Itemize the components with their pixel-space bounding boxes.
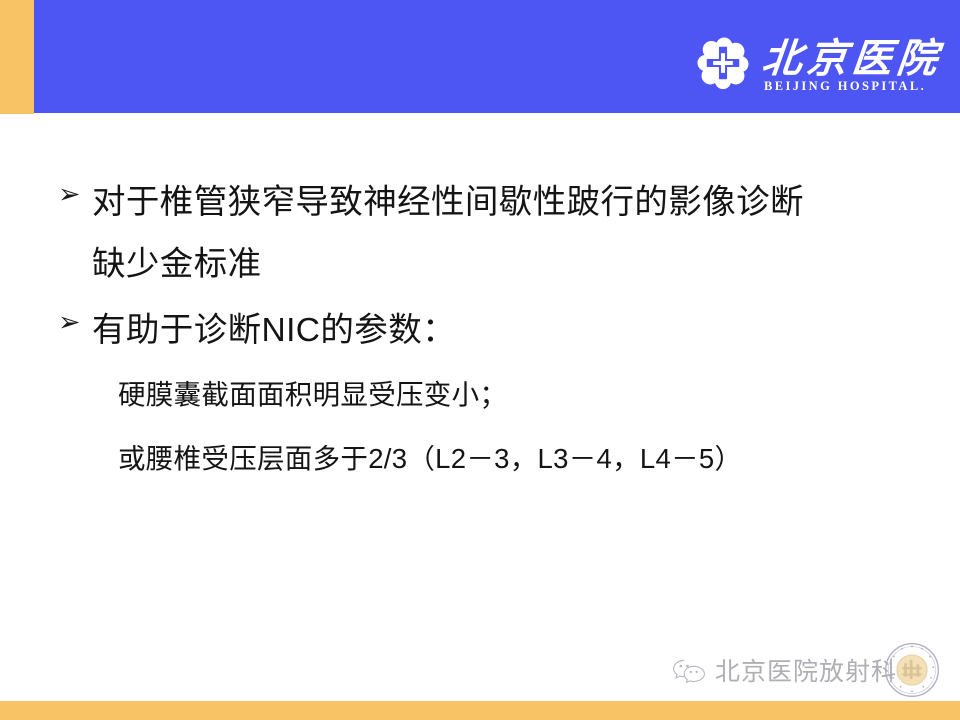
watermark: 北京医院放射科 <box>672 642 940 698</box>
presentation-slide: 北京医院 BEIJING HOSPITAL. ➢ 对于椎管狭窄导致神经性间歇性跛… <box>0 0 960 720</box>
hospital-name-cn: 北京医院 <box>760 38 944 80</box>
bullet-arrow-icon: ➢ <box>58 172 92 218</box>
bullet-item-1: ➢ 对于椎管狭窄导致神经性间歇性跛行的影像诊断 缺少金标准 <box>58 172 918 296</box>
bullet-item-2-text: 有助于诊断NIC的参数： <box>92 300 456 362</box>
sub-item-2: 或腰椎受压层面多于2/3（L2－3，L3－4，L4－5） <box>118 439 742 479</box>
hospital-cross-emblem-icon <box>694 34 752 92</box>
bullet-arrow-icon: ➢ <box>58 300 92 346</box>
footer-accent-band <box>0 701 960 720</box>
hospital-logo: 北京医院 BEIJING HOSPITAL. <box>694 22 942 94</box>
bullet-item-1-line-1: 对于椎管狭窄导致神经性间歇性跛行的影像诊断 <box>92 184 804 221</box>
wechat-logo-icon <box>672 657 706 683</box>
watermark-text: 北京医院放射科 <box>715 652 897 688</box>
slide-content: ➢ 对于椎管狭窄导致神经性间歇性跛行的影像诊断 缺少金标准 ➢ 有助于诊断NIC… <box>0 113 960 701</box>
bullet-item-1-line-2: 缺少金标准 <box>92 234 804 296</box>
hospital-logo-wordmark: 北京医院 BEIJING HOSPITAL. <box>762 38 942 94</box>
circular-seal-badge-icon <box>884 642 940 698</box>
bullet-item-2: ➢ 有助于诊断NIC的参数： <box>58 300 758 362</box>
hospital-name-en: BEIJING HOSPITAL. <box>764 80 926 94</box>
slide-header-band: 北京医院 BEIJING HOSPITAL. <box>34 0 960 113</box>
bullet-item-1-text: 对于椎管狭窄导致神经性间歇性跛行的影像诊断 缺少金标准 <box>92 172 804 296</box>
sub-item-1: 硬膜囊截面面积明显受压变小； <box>118 375 507 415</box>
left-accent-strip <box>0 0 34 114</box>
